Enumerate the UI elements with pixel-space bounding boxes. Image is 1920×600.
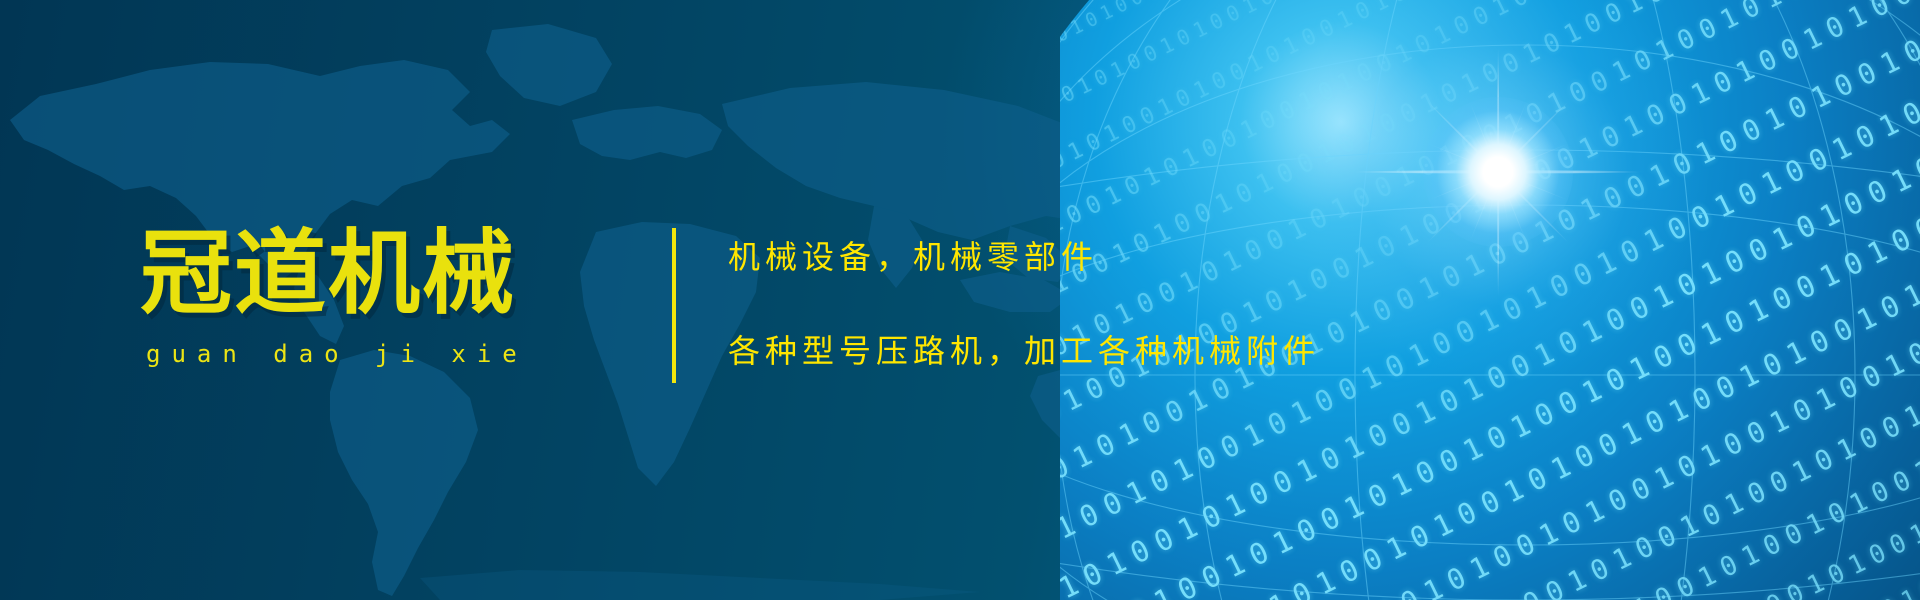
brand-pinyin: guan dao ji xie — [146, 340, 528, 368]
tagline-group: 机械设备，机械零部件 各种型号压路机，加工各种机械附件 — [728, 232, 1320, 372]
hero-banner: 0100100100101001010010010100100100100100… — [0, 0, 1920, 600]
banner-content: 冠道机械 guan dao ji xie 机械设备，机械零部件 各种型号压路机，… — [0, 0, 1400, 600]
vertical-divider — [672, 228, 676, 383]
tagline-primary: 机械设备，机械零部件 — [728, 232, 1320, 278]
brand-name: 冠道机械 — [140, 228, 528, 320]
tagline-secondary: 各种型号压路机，加工各种机械附件 — [728, 326, 1320, 372]
brand-logo: 冠道机械 guan dao ji xie — [140, 228, 528, 368]
